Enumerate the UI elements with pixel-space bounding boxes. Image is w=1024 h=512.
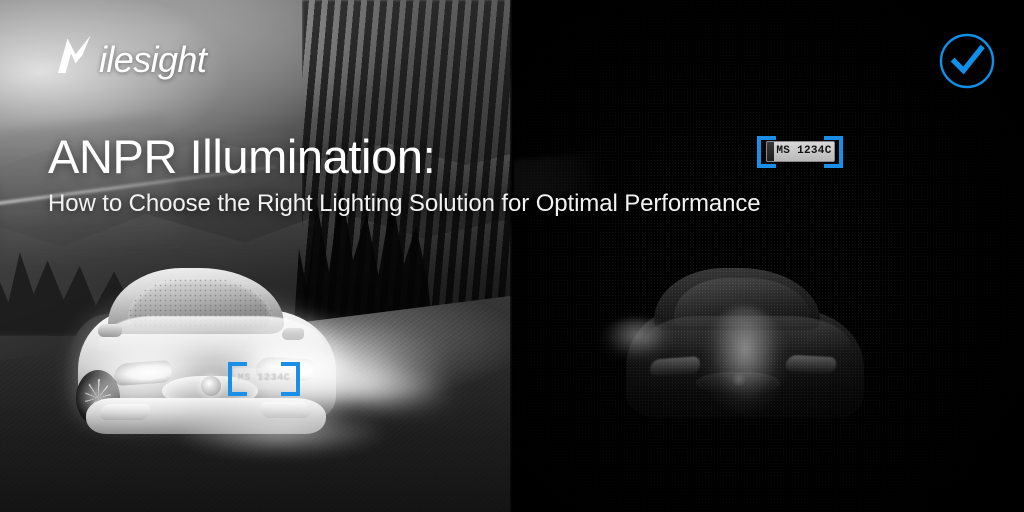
detect-corner-top-right [281,362,300,379]
panel-divider [510,0,514,512]
anpr-illumination-banner: MS 1234C MS 1 [0,0,1024,512]
detect-corner-bottom-left [757,151,776,168]
headlight-right-dark [786,355,837,375]
side-mirror-left [98,324,122,337]
road-glare-reflection [120,392,440,472]
headlight-left-dark [649,356,700,376]
detect-corner-bottom-left [228,379,247,396]
ground-reflection-right [702,306,788,416]
side-mirror-right [282,328,304,340]
milesight-logo: ilesight [52,33,206,79]
detect-corner-bottom-right [281,379,300,396]
milesight-wordmark: ilesight [99,42,206,78]
detect-corner-bottom-right [824,151,843,168]
plate-detection-box-overexposed: MS 1234C [228,362,300,396]
headlight-left [113,360,172,386]
page-title: ANPR Illumination: [48,132,435,183]
detect-corner-top-left [228,362,247,379]
milesight-m-icon [52,33,98,79]
plate-detection-box-lowlight: MS 1234C [757,136,843,168]
ground-reflection-left [598,318,674,362]
check-circle-icon [938,32,996,90]
page-subtitle: How to Choose the Right Lighting Solutio… [48,189,761,219]
